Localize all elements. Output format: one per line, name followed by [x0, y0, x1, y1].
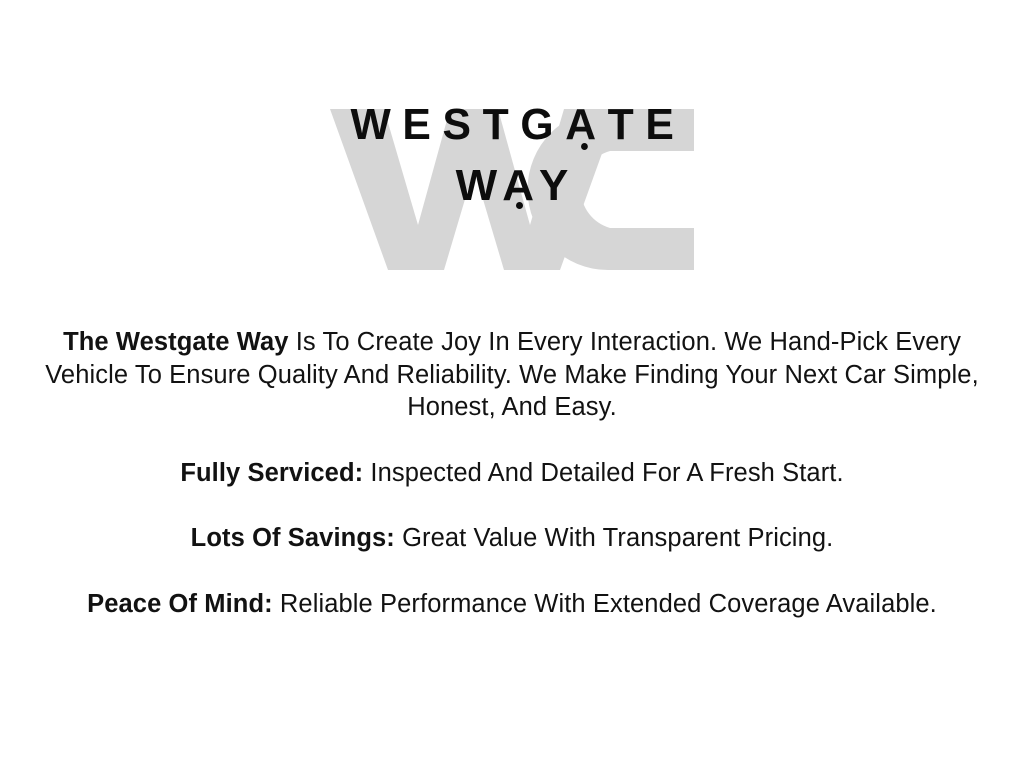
paragraph-peace-of-mind-text: Reliable Performance With Extended Cover… [273, 590, 937, 618]
brand-wordmark-line-2: WAY [5, 157, 1024, 215]
brand-wordmark: WESTGATE WAY [0, 95, 1024, 215]
value-proposition-copy: The Westgate Way Is To Create Joy In Eve… [0, 326, 1024, 620]
wordmark-line1-pre: WESTG [351, 100, 566, 149]
wordmark-line2-post: Y [539, 161, 573, 210]
dealer-value-proposition-slide: WESTGATE WAY The Westgate Way Is To Crea… [0, 0, 1024, 768]
wordmark-line2-dotted-a: A [502, 157, 539, 215]
brand-wordmark-line-1: WESTGATE [27, 95, 1009, 155]
paragraph-lots-of-savings: Lots Of Savings: Great Value With Transp… [24, 522, 1000, 555]
wordmark-line2-pre: W [456, 161, 503, 210]
paragraph-peace-of-mind-lead: Peace Of Mind: [87, 590, 273, 618]
paragraph-fully-serviced-lead: Fully Serviced: [180, 459, 363, 487]
paragraph-lots-of-savings-lead: Lots Of Savings: [191, 524, 395, 552]
paragraph-peace-of-mind: Peace Of Mind: Reliable Performance With… [24, 588, 1000, 621]
wordmark-line1-dotted-a: A [565, 95, 607, 155]
paragraph-intro-lead: The Westgate Way [63, 328, 288, 356]
brand-logo: WESTGATE WAY [0, 95, 1024, 285]
paragraph-fully-serviced-text: Inspected And Detailed For A Fresh Start… [363, 459, 843, 487]
paragraph-intro: The Westgate Way Is To Create Joy In Eve… [24, 326, 1000, 424]
paragraph-fully-serviced: Fully Serviced: Inspected And Detailed F… [24, 457, 1000, 490]
paragraph-lots-of-savings-text: Great Value With Transparent Pricing. [395, 524, 833, 552]
wordmark-line1-post: TE [608, 100, 686, 149]
